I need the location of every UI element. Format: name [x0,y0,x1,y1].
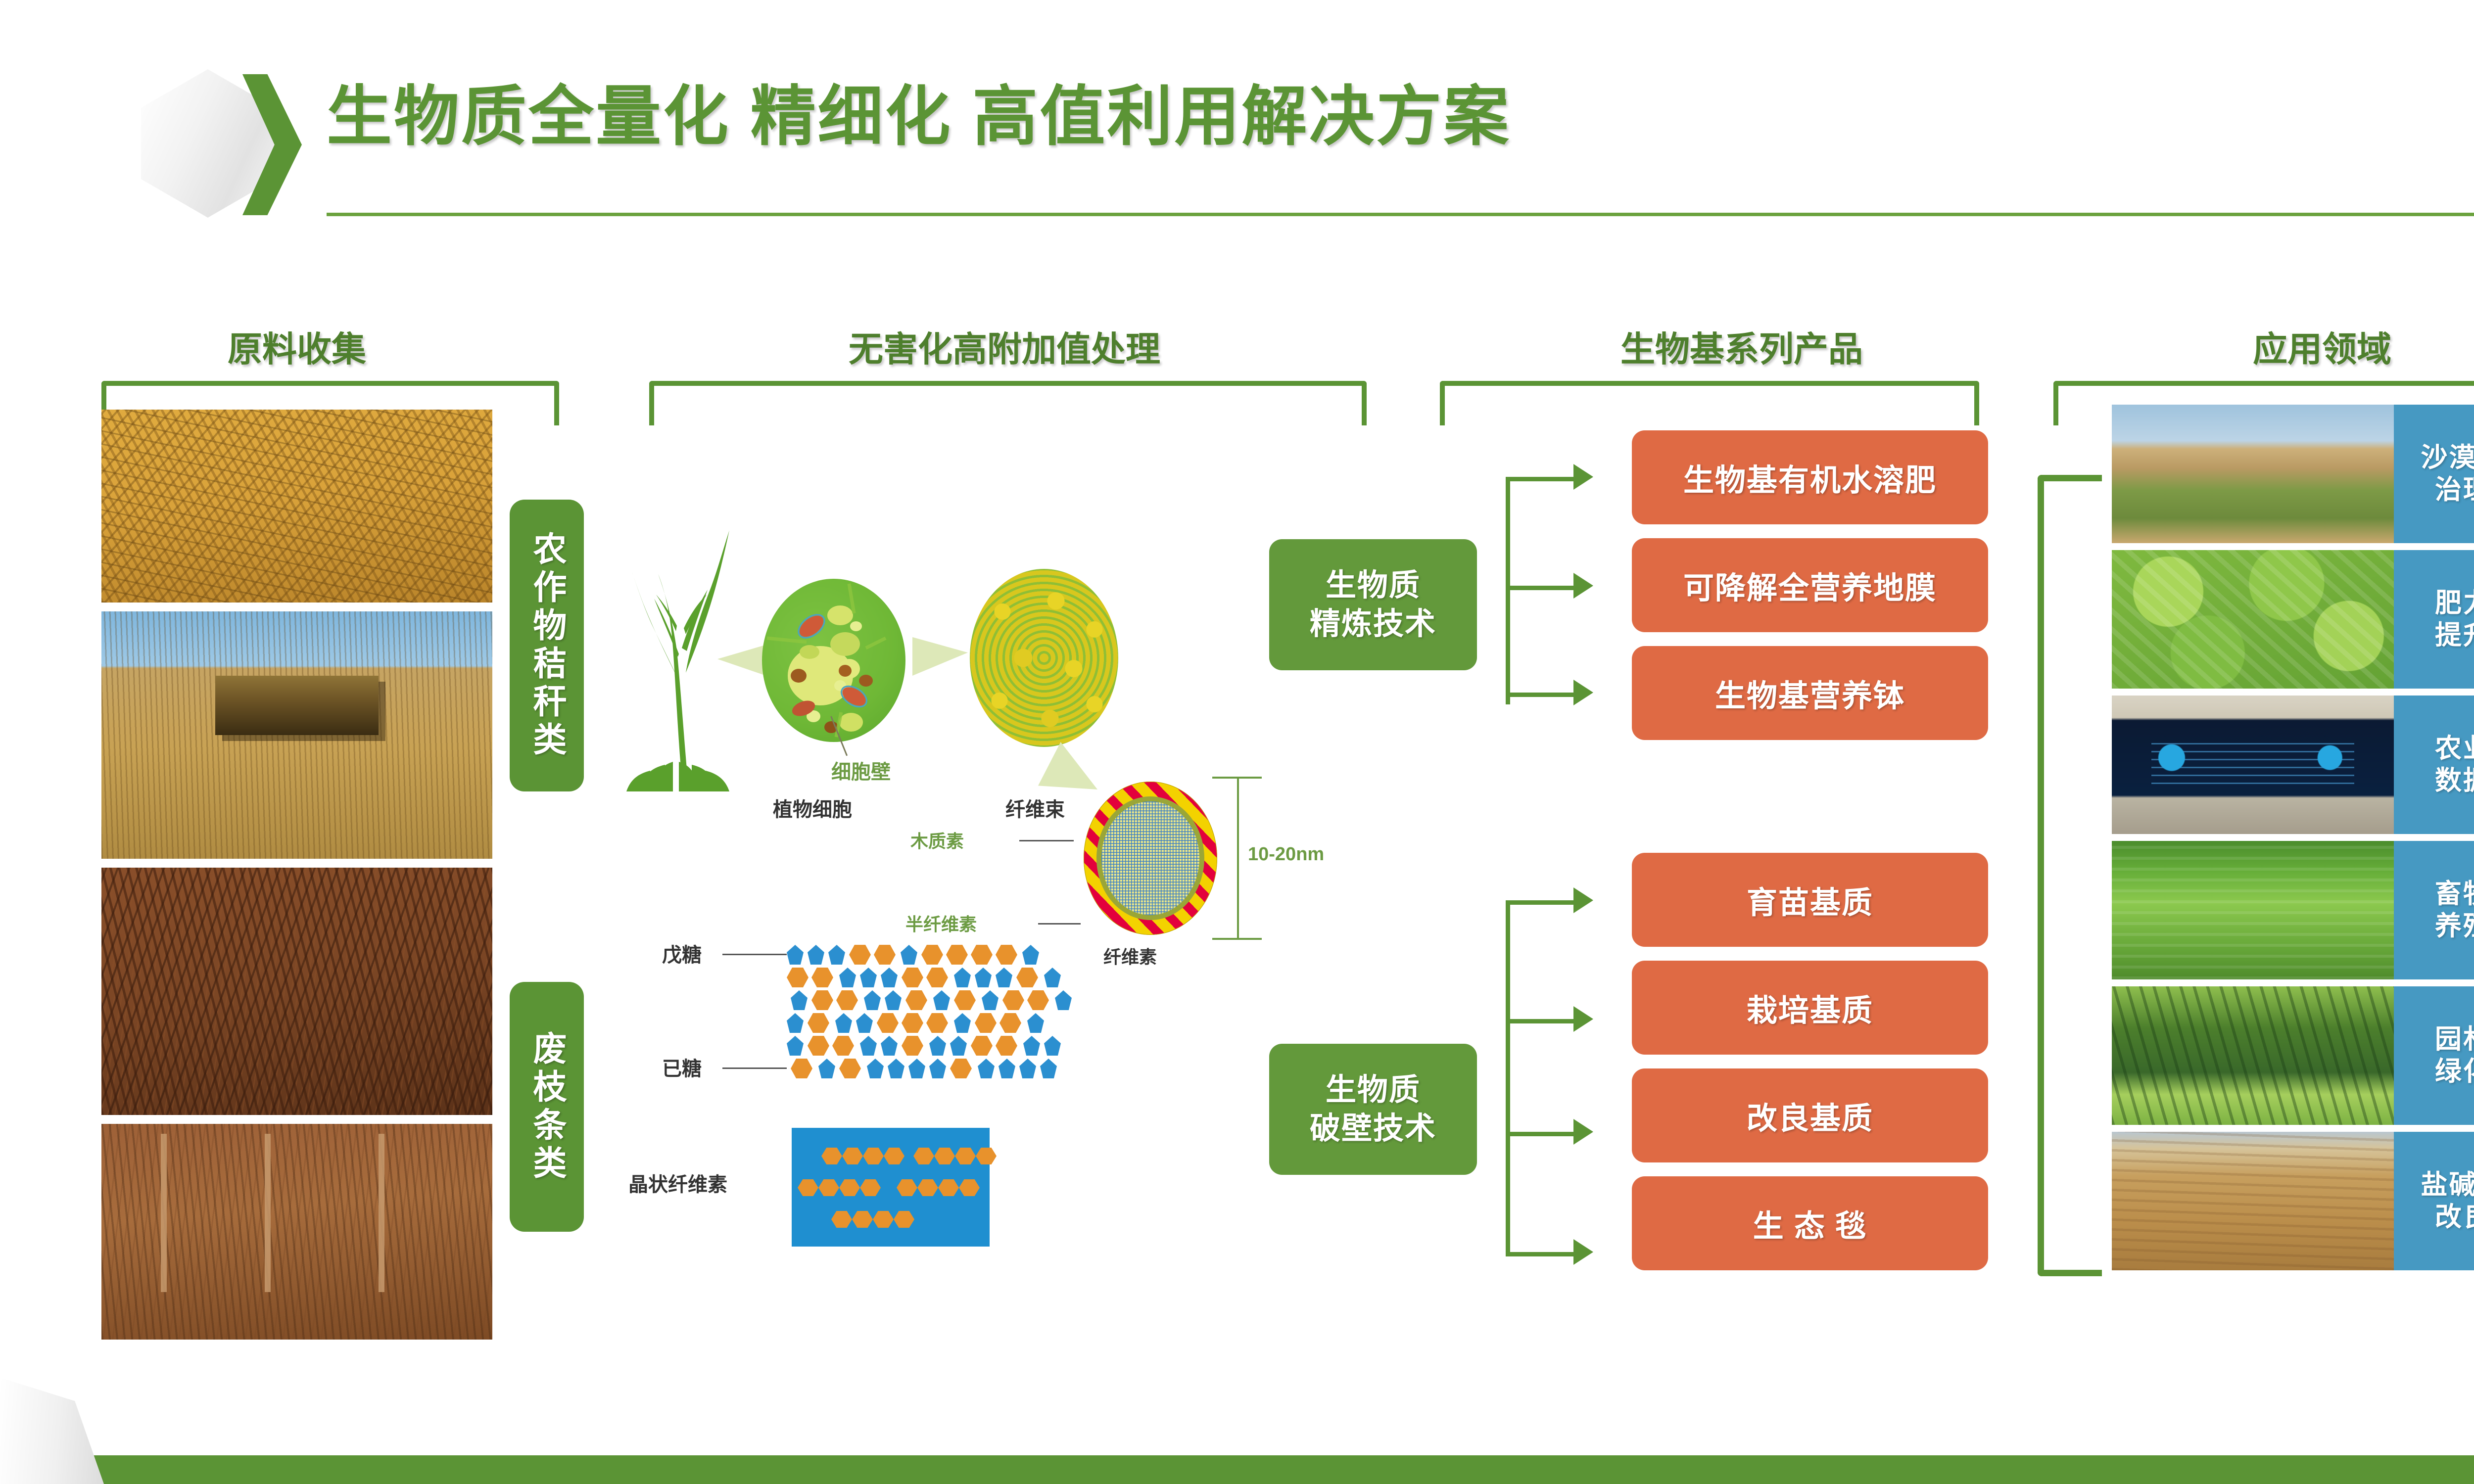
pentose-leader-line [722,954,787,955]
bracket-products-to-applications [2038,475,2102,1276]
arrow-to-product-2 [1573,573,1593,599]
tech-refining-line2: 精炼技术 [1310,605,1436,644]
application-row-greening[interactable]: 园林 绿化 [2112,986,2474,1125]
arrow-to-product-6 [1573,1119,1593,1145]
vineyard-branches-photo [101,1124,492,1340]
application-label-desertification: 沙漠化 治理 [2394,405,2474,543]
title-underline-divider [327,213,2474,216]
app-fertility-line2: 提升 [2435,619,2474,651]
application-row-desertification[interactable]: 沙漠化 治理 [2112,405,2474,543]
section-title-harmless-processing: 无害化高附加值处理 [638,322,1371,371]
plant-cell-label: 植物细胞 [773,793,852,822]
sugar-chain-illustration [787,945,1128,1093]
section-title-biobased-products: 生物基系列产品 [1430,322,2053,371]
hemicellulose-label: 半纤维素 [905,910,977,936]
desert-control-photo [2112,405,2394,543]
scale-cap-top [1212,777,1262,779]
section-title-application-fields: 应用领域 [2112,322,2474,371]
hemicellulose-leader-line [1038,923,1081,925]
bracket-processing [649,381,1367,425]
connector-refining-spine [1506,477,1510,704]
lignin-label: 木质素 [910,827,964,853]
product-box-ecological-blanket[interactable]: 生 态 毯 [1632,1176,1988,1270]
connector-breaking-spine [1506,900,1510,1256]
crystalline-cellulose-label: 晶状纤维素 [628,1168,727,1197]
corn-straw-field-photo [101,410,492,603]
vineyard-post-1 [161,1134,167,1292]
raw-tag-crop-straw-label: 农作物秸秆类 [529,531,565,760]
connector-breaking-3 [1506,1132,1575,1136]
page-header: 生物质全量化 精细化 高值利用解决方案 [0,0,2474,257]
lignin-leader-line [1019,840,1074,841]
app-livestock-line2: 养殖 [2435,910,2474,942]
connector-breaking-1 [1506,900,1575,905]
pentose-label: 戊糖 [662,939,702,968]
application-row-livestock[interactable]: 畜牧 养殖 [2112,841,2474,979]
tech-box-refining[interactable]: 生物质 精炼技术 [1269,539,1477,670]
application-label-livestock: 畜牧 养殖 [2394,841,2474,979]
magnify-beam-2 [912,637,968,676]
plant-cell-illustration [762,579,905,742]
saline-alkali-land-photo [2112,1132,2394,1270]
connector-refining-2 [1506,586,1575,590]
product-box-improvement-substrate[interactable]: 改良基质 [1632,1068,1988,1162]
product-box-nutrient-pot[interactable]: 生物基营养钵 [1632,646,1988,740]
scale-cap-bottom [1212,938,1262,940]
tech-refining-line1: 生物质 [1310,566,1436,605]
connector-breaking-2 [1506,1019,1575,1023]
product-box-seedling-substrate[interactable]: 育苗基质 [1632,853,1988,947]
connector-refining-1 [1506,477,1575,481]
arrow-to-product-1 [1573,464,1593,490]
arrow-to-product-5 [1573,1006,1593,1032]
raw-tag-waste-branches: 废枝条类 [510,982,584,1232]
straw-bale-shape [215,676,379,735]
straw-bale-field-photo [101,611,492,859]
product-box-biodegradable-mulch-film[interactable]: 可降解全营养地膜 [1632,538,1988,632]
crystalline-cellulose-illustration [792,1128,990,1247]
tech-breaking-line2: 破壁技术 [1310,1110,1436,1148]
fiber-bundle-illustration [970,569,1118,747]
app-data-line1: 农业 [2435,733,2474,765]
scale-label: 10-20nm [1248,844,1324,865]
scale-dimension-line [1237,777,1239,940]
raw-tag-crop-straw: 农作物秸秆类 [510,500,584,791]
agriculture-data-center-photo [2112,696,2394,834]
page-title: 生物质全量化 精细化 高值利用解决方案 [327,84,1511,149]
application-label-agri-data: 农业 数据 [2394,696,2474,834]
app-fertility-line1: 肥力 [2435,587,2474,619]
vineyard-post-3 [379,1134,384,1292]
app-desert-line2: 治理 [2421,474,2474,506]
cell-wall-label: 细胞壁 [831,756,891,785]
app-greening-line1: 园林 [2435,1023,2474,1056]
hexose-leader-line [722,1067,787,1069]
hexose-label: 已糖 [662,1053,702,1081]
product-box-cultivation-substrate[interactable]: 栽培基质 [1632,961,1988,1055]
app-desert-line1: 沙漠化 [2421,442,2474,474]
cellulose-core [1101,801,1199,915]
cellulose-cross-section-illustration [1084,782,1217,935]
connector-breaking-4 [1506,1252,1575,1256]
pruned-branches-pile-photo [101,868,492,1115]
app-greening-line2: 绿化 [2435,1056,2474,1088]
application-label-saline: 盐碱地 改良 [2394,1132,2474,1270]
connector-refining-3 [1506,693,1575,697]
applications-column: 沙漠化 治理 肥力 提升 农业 数据 畜牧 养殖 [2112,405,2474,1335]
bracket-products [1440,381,1979,425]
cabbage-field-photo [2112,550,2394,689]
application-row-fertility[interactable]: 肥力 提升 [2112,550,2474,689]
app-saline-line2: 改良 [2421,1201,2474,1233]
section-title-raw-collection: 原料收集 [101,322,492,371]
application-label-greening: 园林 绿化 [2394,986,2474,1125]
application-row-saline[interactable]: 盐碱地 改良 [2112,1132,2474,1270]
vineyard-post-2 [265,1134,271,1292]
arrow-to-product-3 [1573,680,1593,705]
arrow-to-product-4 [1573,887,1593,913]
raw-tag-waste-branches-label: 废枝条类 [529,1031,565,1183]
magnify-beam-3 [1038,742,1097,789]
raw-materials-column [101,410,492,1340]
fiber-bundle-label: 纤维束 [1005,793,1065,822]
product-box-water-soluble-fertilizer[interactable]: 生物基有机水溶肥 [1632,430,1988,524]
footer-wedge-decoration [0,1378,104,1484]
app-data-line2: 数据 [2435,765,2474,797]
tech-box-cell-wall-breaking[interactable]: 生物质 破壁技术 [1269,1044,1477,1175]
sheep-grazing-photo [2112,841,2394,979]
application-label-fertility: 肥力 提升 [2394,550,2474,689]
app-saline-line1: 盐碱地 [2421,1169,2474,1201]
landscape-greening-photo [2112,986,2394,1125]
arrow-to-product-7 [1573,1239,1593,1265]
tech-breaking-line1: 生物质 [1310,1071,1436,1110]
application-row-agri-data[interactable]: 农业 数据 [2112,696,2474,834]
app-livestock-line1: 畜牧 [2435,878,2474,910]
footer-green-bar [0,1455,2474,1484]
